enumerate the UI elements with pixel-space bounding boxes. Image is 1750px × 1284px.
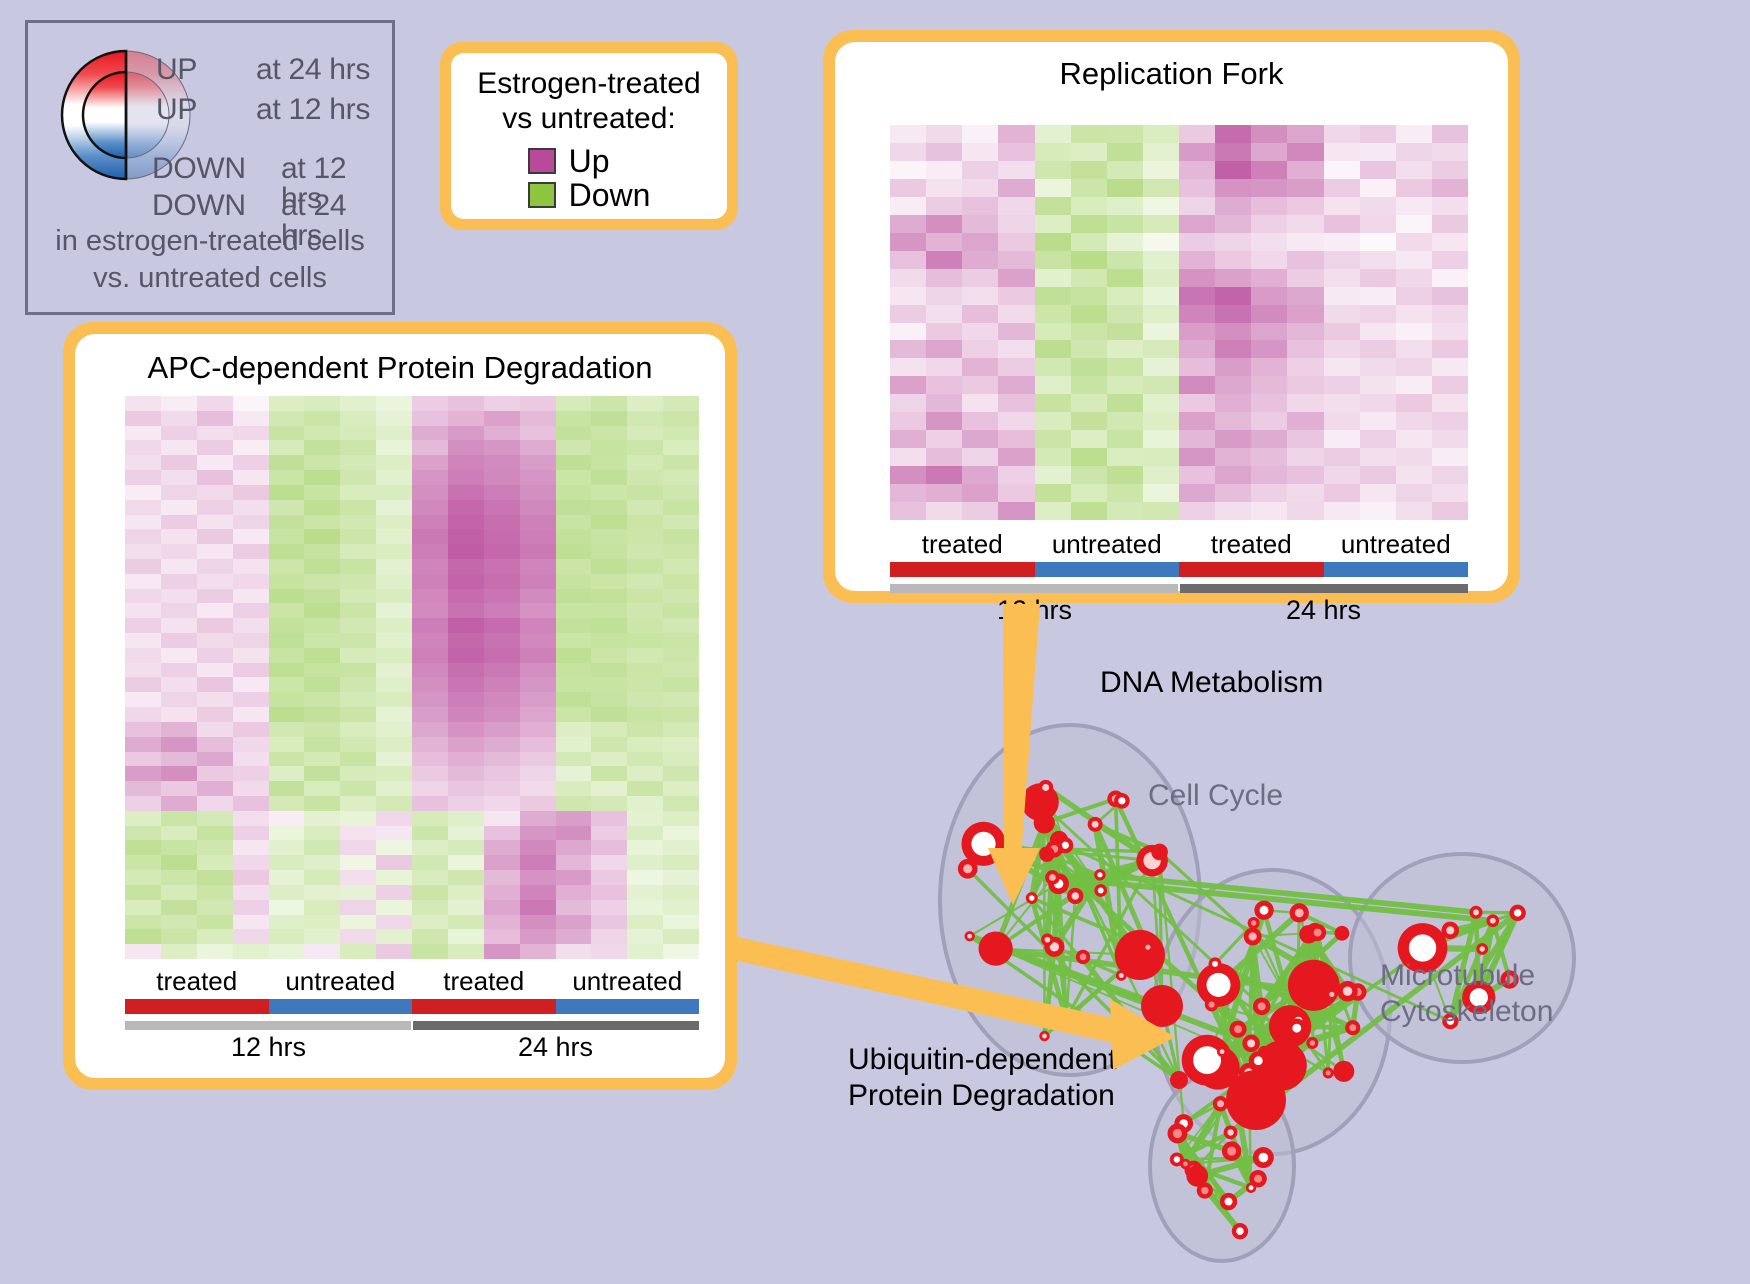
colorwheel-row-0-value: UP [156,55,197,85]
colorwheel-footer-line2: vs. untreated cells [28,260,392,297]
rf-time-bar-24 [1180,584,1468,593]
legend-entry-down-label: Down [569,179,651,211]
legend-entry-up: Up [528,145,651,177]
up-swatch-icon [528,148,556,174]
microtubule-line1: Microtubule [1380,958,1553,994]
apc-degradation-heatmap [125,396,699,959]
rf-bar-treated-12 [890,562,1035,577]
ubiquitin-line2: Protein Degradation [848,1078,1117,1114]
network-svg [770,610,1750,1279]
figure-canvas: UP at 24 hrs UP at 12 hrs DOWN at 12 hrs… [0,0,1750,1279]
heatmap-legend-panel: Estrogen-treated vs untreated: Up Down [440,42,738,230]
apc-condition-0: treated [125,966,269,997]
apc-condition-2: treated [412,966,556,997]
replication-fork-title: Replication Fork [835,42,1508,92]
cluster-label-microtubule-cytoskeleton: Microtubule Cytoskeleton [1380,958,1553,1030]
apc-time-labels: 12 hrs 24 hrs [125,1032,699,1063]
rf-time-bar [890,584,1468,593]
replication-fork-panel: Replication Fork treated untreated treat… [823,30,1520,603]
colorwheel-row-0-time: at 24 hrs [256,55,370,85]
apc-condition-1: untreated [269,966,413,997]
apc-bar-treated-12 [125,999,269,1014]
apc-timepoint-1: 24 hrs [412,1032,699,1063]
colorwheel-row-1-value: UP [156,95,197,125]
rf-bar-untreated-24 [1324,562,1469,577]
pathway-network-diagram: DNA Metabolism Cell Cycle Microtubule Cy… [770,610,1750,1279]
apc-degradation-axis: treated untreated treated untreated 12 h [125,966,699,1063]
rf-condition-bar [890,562,1468,577]
colorwheel-footer-line1: in estrogen-treated cells [28,223,392,260]
apc-bar-untreated-12 [269,999,413,1014]
apc-time-bar-24 [413,1021,699,1030]
legend-title-line1: Estrogen-treated [451,67,727,102]
cluster-label-ubiquitin-degradation: Ubiquitin-dependent Protein Degradation [848,1042,1117,1114]
legend-title-line2: vs untreated: [451,102,727,137]
apc-condition-bar [125,999,699,1014]
legend-entry-up-label: Up [569,145,610,177]
apc-timepoint-0: 12 hrs [125,1032,412,1063]
rf-condition-1: untreated [1035,529,1180,560]
colorwheel-row-1-time: at 12 hrs [256,95,370,125]
rf-bar-untreated-12 [1035,562,1180,577]
apc-degradation-title: APC-dependent Protein Degradation [75,334,725,386]
colorwheel-legend-box: UP at 24 hrs UP at 12 hrs DOWN at 12 hrs… [25,20,395,315]
apc-condition-labels: treated untreated treated untreated [125,966,699,997]
cluster-label-dna-metabolism: DNA Metabolism [1100,665,1323,701]
cluster-label-cell-cycle: Cell Cycle [1148,778,1283,814]
apc-time-bar-12 [125,1021,411,1030]
colorwheel-row-2-value: DOWN [152,154,246,184]
apc-condition-3: untreated [556,966,700,997]
apc-bar-untreated-24 [556,999,700,1014]
ubiquitin-line1: Ubiquitin-dependent [848,1042,1117,1078]
replication-fork-heatmap [890,125,1468,520]
rf-time-bar-12 [890,584,1178,593]
rf-condition-labels: treated untreated treated untreated [890,529,1468,560]
apc-bar-treated-24 [412,999,556,1014]
apc-time-bar [125,1021,699,1030]
rf-condition-3: untreated [1324,529,1469,560]
rf-bar-treated-24 [1179,562,1324,577]
rf-condition-0: treated [890,529,1035,560]
apc-degradation-panel: APC-dependent Protein Degradation treate… [63,322,737,1090]
rf-condition-2: treated [1179,529,1324,560]
microtubule-line2: Cytoskeleton [1380,994,1553,1030]
legend-entry-down: Down [528,179,651,211]
colorwheel-footer: in estrogen-treated cells vs. untreated … [28,223,392,297]
colorwheel-row-3-value: DOWN [152,191,246,221]
down-swatch-icon [528,182,556,208]
